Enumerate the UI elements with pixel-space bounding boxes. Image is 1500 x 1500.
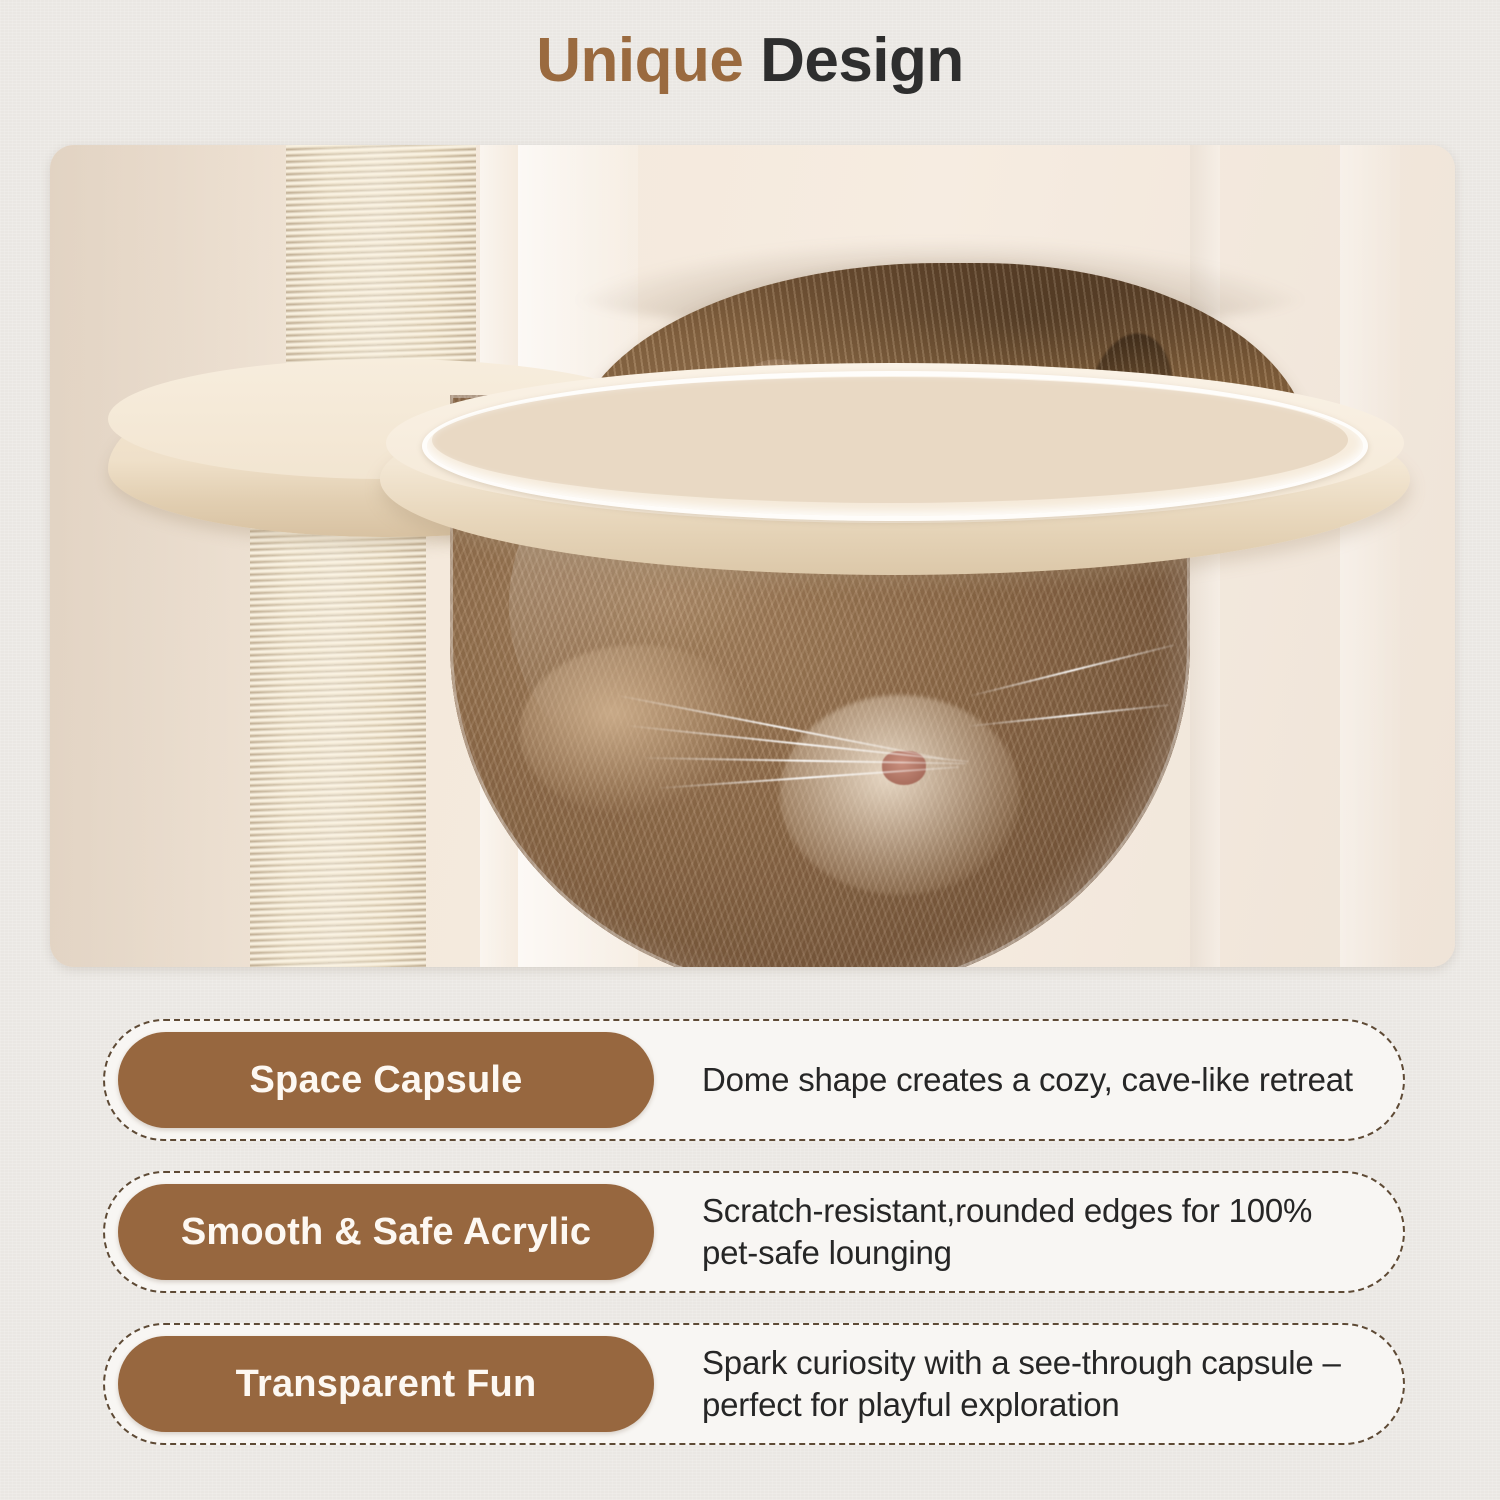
feature-label-pill: Space Capsule bbox=[118, 1032, 654, 1128]
feature-description: Spark curiosity with a see-through capsu… bbox=[654, 1342, 1393, 1426]
sisal-scratching-post-lower bbox=[250, 525, 426, 967]
feature-description: Scratch-resistant,rounded edges for 100%… bbox=[654, 1190, 1393, 1274]
product-photo bbox=[50, 145, 1455, 967]
feature-row: Transparent Fun Spark curiosity with a s… bbox=[103, 1323, 1405, 1445]
feature-row: Space Capsule Dome shape creates a cozy,… bbox=[103, 1019, 1405, 1141]
feature-list: Space Capsule Dome shape creates a cozy,… bbox=[103, 1019, 1405, 1445]
acrylic-dome-rim bbox=[422, 371, 1368, 521]
wall-panel-4 bbox=[1340, 145, 1400, 967]
product-photo-scene bbox=[50, 145, 1455, 967]
feature-row: Smooth & Safe Acrylic Scratch-resistant,… bbox=[103, 1171, 1405, 1293]
page-title: Unique Design bbox=[0, 22, 1500, 100]
feature-label-pill: Transparent Fun bbox=[118, 1336, 654, 1432]
page-title-accent-word: Unique bbox=[536, 26, 743, 95]
page-title-main-word: Design bbox=[760, 26, 964, 95]
sisal-scratching-post-upper bbox=[286, 145, 476, 395]
feature-description: Dome shape creates a cozy, cave-like ret… bbox=[654, 1059, 1393, 1101]
feature-label-pill: Smooth & Safe Acrylic bbox=[118, 1184, 654, 1280]
